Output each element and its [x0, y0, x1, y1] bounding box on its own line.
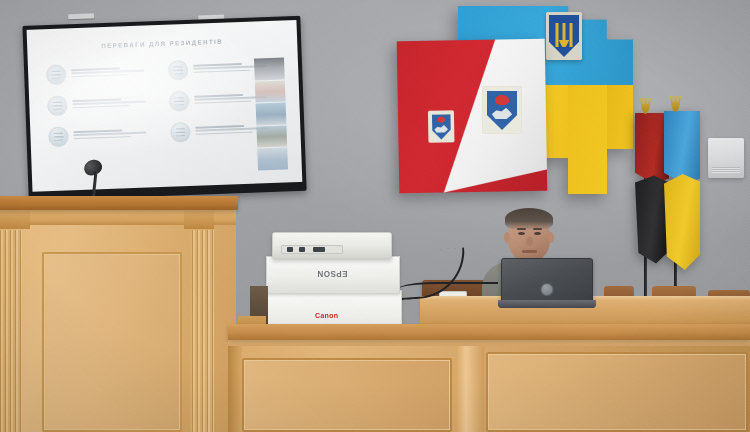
- circle-badge-icon: [170, 122, 191, 143]
- cable-bundle-secondary: [398, 282, 498, 300]
- podium-flute-right: [190, 230, 214, 432]
- canon-box-label: Canon: [315, 313, 338, 320]
- circle-badge-icon: [169, 91, 190, 112]
- person-eye-right: [534, 232, 541, 235]
- projector-port: [287, 247, 293, 252]
- circle-badge-icon: [46, 64, 67, 85]
- podium-corbel-right: [184, 211, 214, 229]
- slide-title: ПЕРЕВАГИ ДЛЯ РЕЗИДЕНТІВ: [41, 36, 283, 52]
- regional-flag-wall: [397, 39, 548, 194]
- video-thumbnail: [254, 57, 285, 80]
- ukraine-flag: [664, 111, 700, 261]
- slide-icon-grid: [42, 56, 287, 147]
- wall-mounted-flag-composition: [398, 2, 638, 194]
- laptop[interactable]: [498, 258, 596, 310]
- podium-flute-left: [0, 230, 22, 432]
- projector: [272, 232, 392, 259]
- projector-vga-port: [313, 247, 325, 252]
- video-call-participant-strip: [254, 57, 288, 170]
- regional-coat-of-arms-small: [428, 110, 455, 142]
- podium-front-panel: [42, 252, 182, 432]
- ukraine-flag-yellow: [664, 174, 700, 270]
- person-eye-left: [518, 232, 525, 235]
- slide-item-text: [71, 66, 158, 79]
- video-thumbnail: [256, 103, 287, 126]
- person-mouth: [522, 250, 537, 253]
- regional-coat-of-arms: [482, 86, 522, 134]
- speaker-podium: [0, 196, 244, 432]
- flag-yellow-field-step: [568, 85, 607, 194]
- trident-finial-icon: [640, 98, 651, 114]
- wall-mounted-air-conditioner: [708, 138, 744, 178]
- microphone-head: [82, 157, 104, 178]
- meeting-hall-photo: ПЕРЕВАГИ ДЛЯ РЕЗИДЕНТІВ: [0, 0, 750, 432]
- podium-top-surface: [0, 196, 238, 210]
- person-hair: [505, 208, 553, 230]
- person-nose: [526, 237, 533, 246]
- slide-item: [47, 92, 160, 116]
- ukraine-flag-blue: [664, 111, 700, 183]
- projector-port: [299, 247, 305, 252]
- coat-of-arms-shield: [431, 114, 450, 140]
- foreground-desk-bench: [228, 324, 750, 432]
- video-thumbnail: [255, 80, 286, 103]
- laptop-base: [498, 300, 596, 308]
- epson-box-label: EPSON: [317, 269, 348, 278]
- person-ear-right: [548, 232, 554, 243]
- bench-panel-left: [242, 358, 452, 432]
- laptop-logo-icon: [541, 283, 554, 296]
- slide-item: [48, 123, 161, 147]
- bench-rail-top: [228, 324, 750, 340]
- video-thumbnail: [257, 148, 288, 171]
- trident-finial-icon: [670, 96, 681, 112]
- laptop-lid: [501, 258, 593, 302]
- bench-panel-right: [486, 352, 748, 432]
- slide-item-text: [73, 128, 160, 141]
- coat-of-arms-shield: [487, 91, 517, 130]
- slide-item: [46, 61, 159, 85]
- epson-box: EPSON: [266, 256, 400, 294]
- bench-pilaster: [456, 342, 484, 432]
- person-ear-left: [504, 232, 510, 243]
- podium-corbel-left: [0, 211, 30, 229]
- tryzub-icon: [556, 23, 573, 47]
- screen-bracket-left: [68, 13, 94, 19]
- circle-badge-icon: [48, 126, 69, 147]
- tryzub-shield: [546, 12, 582, 60]
- bench-left-post: [228, 342, 242, 432]
- slide-item-text: [72, 97, 159, 110]
- video-thumbnail: [256, 125, 287, 148]
- tryzub-shield-field: [549, 15, 579, 57]
- circle-badge-icon: [168, 60, 189, 81]
- circle-badge-icon: [47, 95, 68, 116]
